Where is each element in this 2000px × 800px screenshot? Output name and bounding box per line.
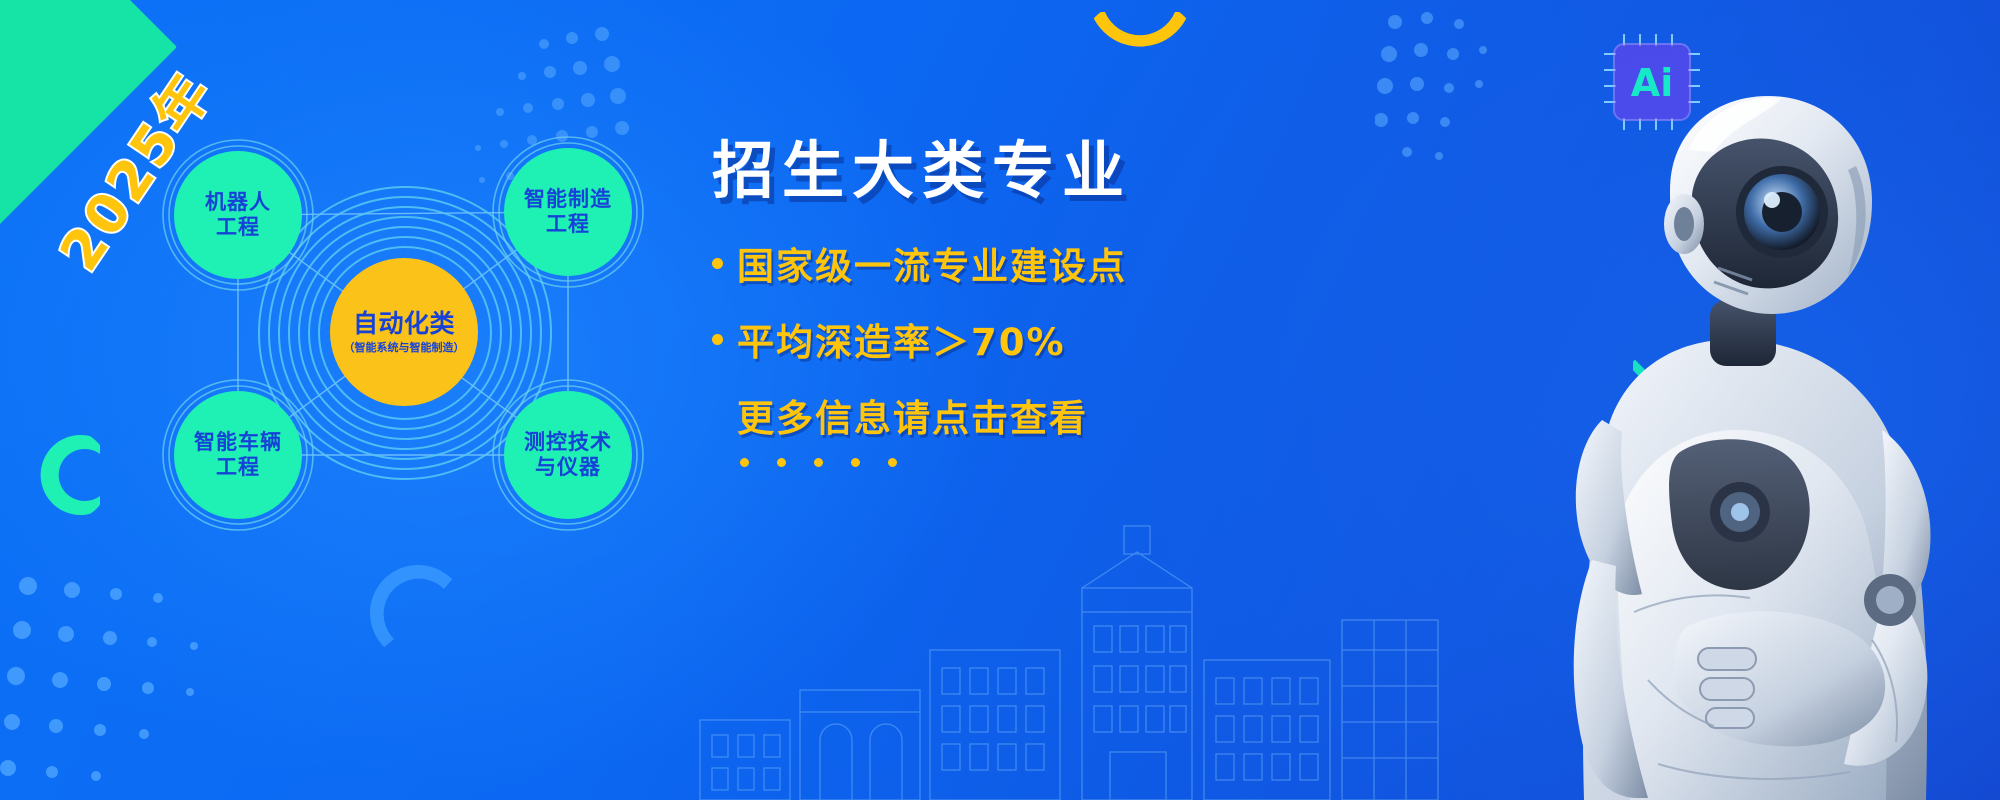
- trailing-dot-icon: [777, 458, 786, 467]
- crescent-top-icon: [1085, 0, 1195, 80]
- node-automation-category[interactable]: 自动化类 （智能系统与智能制造）: [330, 258, 478, 406]
- trailing-dot-icon: [814, 458, 823, 467]
- bullet-item-postgrad-rate: 平均深造率＞70%: [712, 312, 1232, 366]
- node-measurement-instruments[interactable]: 测控技术 与仪器: [504, 391, 632, 519]
- node-robotics-engineering[interactable]: 机器人 工程: [174, 151, 302, 279]
- node-measurement-line2: 与仪器: [535, 455, 601, 480]
- bullet-dot-icon: [712, 258, 723, 269]
- node-robotics-line1: 机器人: [205, 190, 271, 215]
- node-robotics-line2: 工程: [216, 215, 260, 240]
- center-title: 自动化类: [353, 309, 455, 339]
- node-vehicle-line2: 工程: [216, 455, 260, 480]
- trailing-dot-icon: [888, 458, 897, 467]
- copy-block: 招生大类专业 国家级一流专业建设点 平均深造率＞70% 更多信息请点击查看: [712, 140, 1232, 467]
- cta-text[interactable]: 更多信息请点击查看: [737, 388, 1232, 442]
- robot-illustration: [1452, 0, 1992, 800]
- node-manufacturing-line2: 工程: [546, 212, 590, 237]
- node-manufacturing-line1: 智能制造: [524, 187, 612, 212]
- bullet-dot-icon: [712, 334, 723, 345]
- bullet-text-postgrad-rate: 平均深造率＞70%: [737, 312, 1066, 366]
- bullet-item-national-major: 国家级一流专业建设点: [712, 236, 1232, 290]
- page-title: 招生大类专业: [712, 140, 1232, 202]
- trailing-dot-icon: [851, 458, 860, 467]
- trailing-dot-icon: [740, 458, 749, 467]
- trailing-dot-row: [740, 458, 1232, 467]
- center-subtitle: （智能系统与智能制造）: [344, 342, 465, 355]
- node-intelligent-manufacturing[interactable]: 智能制造 工程: [504, 148, 632, 276]
- campus-silhouette: [690, 500, 1470, 800]
- admissions-banner: 2025年: [0, 0, 2000, 800]
- node-intelligent-vehicle[interactable]: 智能车辆 工程: [174, 391, 302, 519]
- node-vehicle-line1: 智能车辆: [194, 430, 282, 455]
- node-measurement-line1: 测控技术: [524, 430, 612, 455]
- bullet-text-national-major: 国家级一流专业建设点: [737, 236, 1127, 290]
